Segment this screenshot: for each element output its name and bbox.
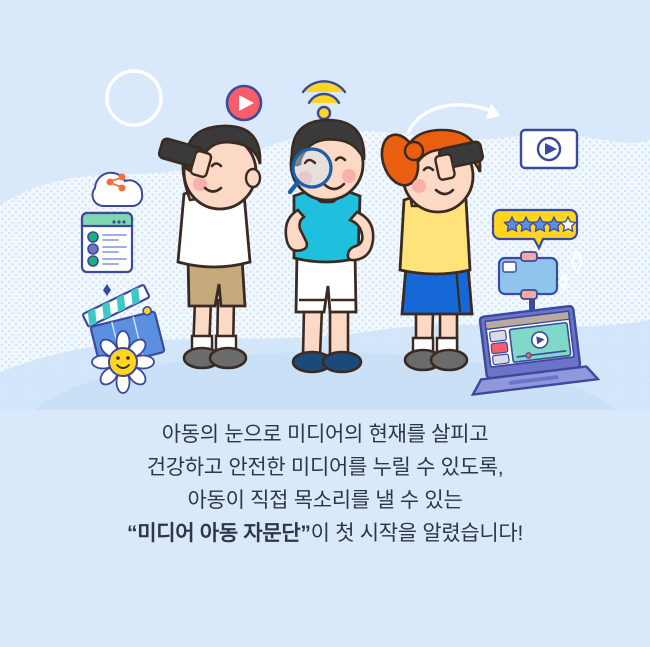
caption-line-2: 건강하고 안전한 미디어를 누릴 수 있도록,	[0, 451, 650, 484]
play-button-icon	[227, 86, 261, 120]
video-card-icon	[521, 130, 577, 168]
caption-block: 아동의 눈으로 미디어의 현재를 살피고 건강하고 안전한 미디어를 누릴 수 …	[0, 418, 650, 550]
caption-line-4: “미디어 아동 자문단”이 첫 시작을 알렸습니다!	[0, 517, 650, 550]
daisy-flower-icon	[92, 331, 154, 393]
caption-line-3: 아동이 직접 목소리를 낼 수 있는	[0, 484, 650, 517]
checklist-document-icon	[82, 213, 132, 272]
caption-line-1: 아동의 눈으로 미디어의 현재를 살피고	[0, 418, 650, 451]
caption-highlight: “미디어 아동 자문단”	[127, 522, 311, 545]
illustration-canvas	[0, 0, 650, 410]
caption-final-rest: 이 첫 시작을 알렸습니다!	[311, 522, 523, 545]
promo-banner: 아동의 눈으로 미디어의 현재를 살피고 건강하고 안전한 미디어를 누릴 수 …	[0, 0, 650, 647]
